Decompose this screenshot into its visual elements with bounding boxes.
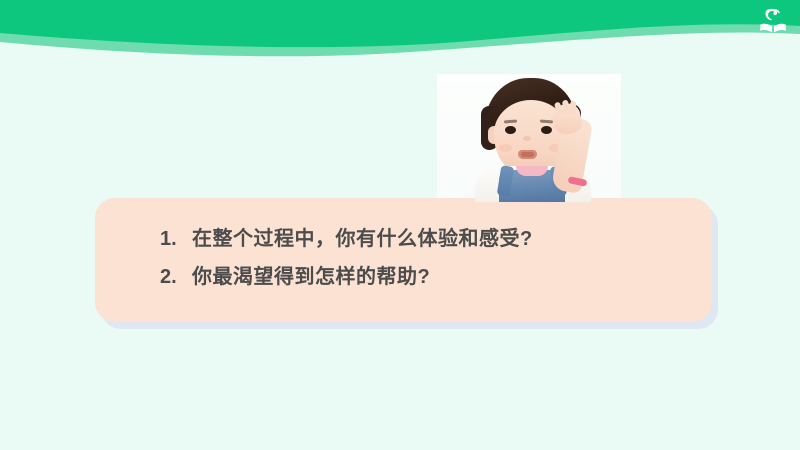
child-cheek-left	[499, 144, 512, 152]
logo-book-left-page	[760, 24, 772, 33]
list-item: 1. 在整个过程中，你有什么体验和感受?	[160, 222, 692, 251]
list-item: 2. 你最渴望得到怎样的帮助?	[160, 260, 692, 289]
child-collar	[516, 166, 548, 176]
question-number: 2.	[160, 266, 192, 289]
child-mouth-inner	[521, 152, 534, 157]
child-eye-right	[541, 126, 552, 134]
slide-canvas: 1. 在整个过程中，你有什么体验和感受? 2. 你最渴望得到怎样的帮助?	[0, 0, 800, 450]
puzzled-child-photo	[437, 74, 621, 202]
question-text: 你最渴望得到怎样的帮助?	[192, 260, 430, 289]
question-text: 在整个过程中，你有什么体验和感受?	[192, 222, 533, 251]
logo-book-right-page	[774, 24, 786, 33]
child-eye-left	[505, 126, 516, 134]
question-number: 1.	[160, 228, 192, 251]
header-wave-band	[0, 0, 800, 70]
child-nose	[523, 136, 531, 141]
open-book-logo	[758, 6, 788, 36]
wave-primary-shape	[0, 0, 800, 47]
question-card: 1. 在整个过程中，你有什么体验和感受? 2. 你最渴望得到怎样的帮助?	[95, 198, 712, 322]
question-list: 1. 在整个过程中，你有什么体验和感受? 2. 你最渴望得到怎样的帮助?	[160, 222, 692, 298]
child-finger	[570, 101, 577, 116]
